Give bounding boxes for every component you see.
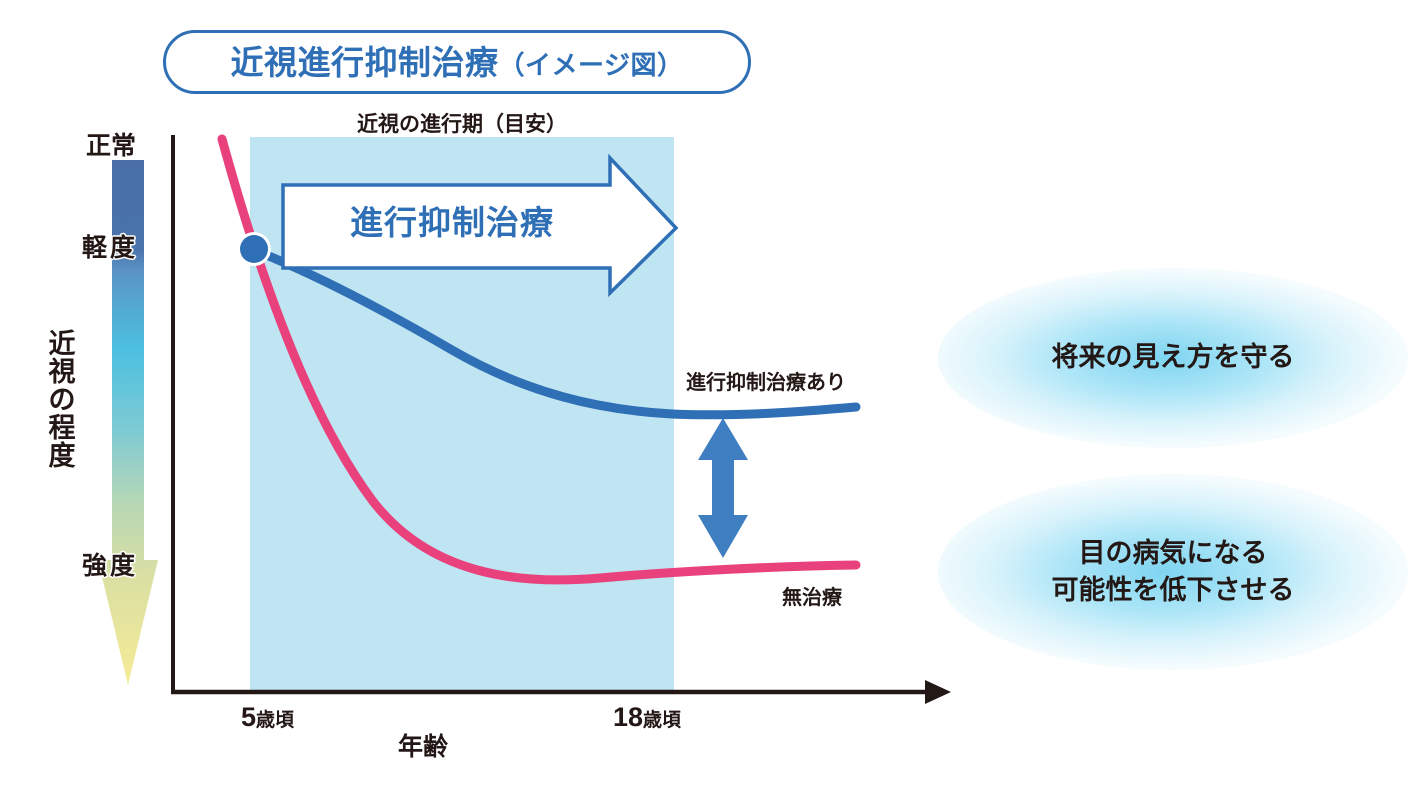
x-axis-title: 年齢: [398, 727, 448, 763]
x-axis-tick-end: 18歳頃: [613, 702, 681, 733]
benefit-bubble-reduce: 目の病気になる 可能性を低下させる: [938, 474, 1408, 670]
x-axis-tick-end-number: 18: [613, 702, 643, 732]
benefit-bubble-protect-text: 将来の見え方を守る: [1052, 339, 1295, 376]
benefit-bubble-protect: 将来の見え方を守る: [938, 268, 1408, 448]
treatment-start-point: [240, 235, 268, 263]
x-axis-tick-start: 5歳頃: [241, 702, 294, 733]
x-axis-arrowhead: [925, 680, 951, 704]
x-axis-tick-end-unit: 歳頃: [643, 710, 681, 731]
treatment-arrow-label: 進行抑制治療: [292, 196, 612, 244]
difference-double-arrow: [698, 418, 748, 558]
benefit-bubble-reduce-text: 目の病気になる 可能性を低下させる: [1052, 535, 1295, 610]
x-axis-tick-start-unit: 歳頃: [256, 710, 294, 731]
curve-label-treated: 進行抑制治療あり: [686, 366, 846, 395]
x-axis-tick-start-number: 5: [241, 702, 256, 732]
curve-label-untreated: 無治療: [782, 581, 842, 610]
